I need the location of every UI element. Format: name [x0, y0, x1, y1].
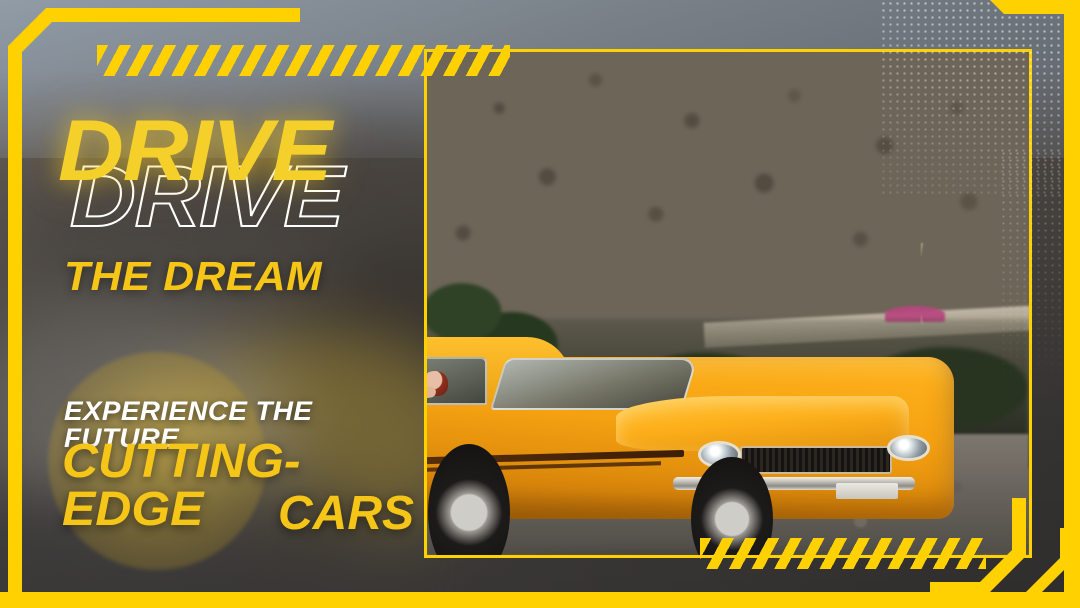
promo-banner: DRIVE DRIVE THE DREAM EXPERIENCE THE FUT… — [0, 0, 1080, 608]
promo-line-2: CARS — [0, 490, 414, 538]
car-grille — [740, 446, 892, 474]
halftone-dot-texture — [1000, 150, 1080, 580]
car-hood — [616, 396, 909, 451]
text-block: DRIVE DRIVE THE DREAM EXPERIENCE THE FUT… — [0, 0, 424, 608]
car-headlight-right — [887, 435, 930, 462]
headline-subline: THE DREAM — [64, 256, 322, 297]
car-license-plate — [836, 483, 898, 499]
hazard-stripes-bottom — [700, 538, 986, 569]
headline-main: DRIVE — [58, 108, 331, 194]
photo-classic-car — [427, 263, 1017, 555]
headline-group: DRIVE DRIVE — [58, 108, 418, 268]
